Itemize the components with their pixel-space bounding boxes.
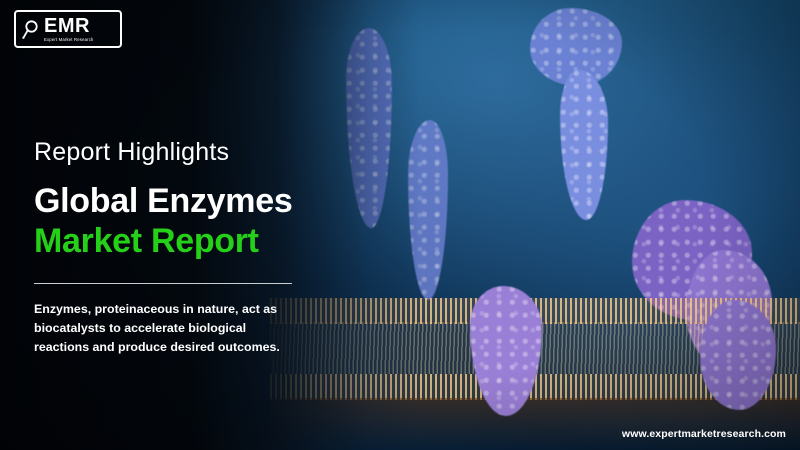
eyebrow-text: Report Highlights bbox=[34, 138, 334, 167]
logo-wordmark: EMR Expert Market Research bbox=[44, 16, 94, 42]
website-url[interactable]: www.expertmarketresearch.com bbox=[622, 428, 786, 440]
divider bbox=[34, 283, 292, 284]
logo-tagline: Expert Market Research bbox=[44, 38, 94, 42]
logo-title: EMR bbox=[44, 16, 94, 36]
emr-logo[interactable]: EMR Expert Market Research bbox=[14, 10, 122, 48]
description-text: Enzymes, proteinaceous in nature, act as… bbox=[34, 300, 296, 357]
page-title-line-2: Market Report bbox=[34, 221, 334, 261]
headline-block: Report Highlights Global Enzymes Market … bbox=[34, 138, 334, 357]
magnifier-icon bbox=[22, 20, 39, 39]
page-title-line-1: Global Enzymes bbox=[34, 181, 334, 221]
report-highlight-banner: EMR Expert Market Research Report Highli… bbox=[0, 0, 800, 450]
